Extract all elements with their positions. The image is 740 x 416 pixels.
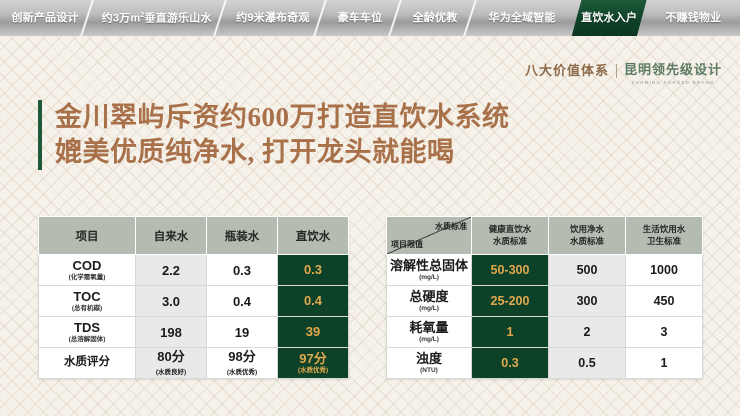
corner-top-label: 水质标准 xyxy=(435,221,467,232)
left-row-3-val-2-main: 97分 xyxy=(280,352,346,366)
left-row-3-name: 水质评分 xyxy=(39,348,136,379)
right-row-2-name-sub: (mg/L) xyxy=(389,336,469,343)
left-row-0-val-1: 0.3 xyxy=(207,255,278,286)
left-row-0-name-main: COD xyxy=(41,259,133,273)
table-row: 水质评分80分(水质良好)98分(水质优秀)97分(水质优秀) xyxy=(39,348,349,379)
table-row: COD(化学需氧量)2.20.30.3 xyxy=(39,255,349,286)
table-right-th-1: 健康直饮水 水质标准 xyxy=(472,217,549,255)
th3-line2: 卫生标准 xyxy=(628,236,700,247)
left-row-2-val-2: 39 xyxy=(278,317,349,348)
left-row-3-val-2: 97分(水质优秀) xyxy=(278,348,349,379)
right-row-3-name-main: 浊度 xyxy=(389,352,469,366)
superscript-two: 2 xyxy=(140,12,144,19)
right-row-1-val-2: 450 xyxy=(626,286,703,317)
table-right-body: 溶解性总固体(mg/L)50-3005001000总硬度(mg/L)25-200… xyxy=(387,255,703,379)
table-left-th-1: 自来水 xyxy=(136,217,207,255)
headline-text: 金川翠屿斥资约600万打造直饮水系统 媲美优质纯净水, 打开龙头就能喝 xyxy=(55,100,510,170)
right-row-1-val-0: 25-200 xyxy=(472,286,549,317)
left-row-3-val-1: 98分(水质优秀) xyxy=(207,348,278,379)
right-row-1-name: 总硬度(mg/L) xyxy=(387,286,472,317)
left-row-1-name-main: TOC xyxy=(41,290,133,304)
left-row-0-val-0: 2.2 xyxy=(136,255,207,286)
left-row-2-name-main: TDS xyxy=(41,321,133,335)
th2-line1: 饮用净水 xyxy=(570,224,604,234)
brand-sub-en-text: KUNMING FORGED BRAND xyxy=(632,80,715,85)
table-left-th-2: 瓶装水 xyxy=(207,217,278,255)
left-row-3-val-0: 80分(水质良好) xyxy=(136,348,207,379)
right-row-0-val-1: 500 xyxy=(549,255,626,286)
th1-line1: 健康直饮水 xyxy=(489,224,532,234)
right-row-1-val-1: 300 xyxy=(549,286,626,317)
table-left-header-row: 项目 自来水 瓶装水 直饮水 xyxy=(39,217,349,255)
left-row-3-val-2-sub: (水质优秀) xyxy=(280,367,346,374)
table-left-head: 项目 自来水 瓶装水 直饮水 xyxy=(39,217,349,255)
water-standards-table: 水质标准 项目限值 健康直饮水 水质标准 饮用净水 水质标准 生活饮用水 卫生标… xyxy=(386,216,703,379)
table-row: 溶解性总固体(mg/L)50-3005001000 xyxy=(387,255,703,286)
brand-sub-cn-text: 昆明领先级设计 xyxy=(624,62,722,78)
left-row-0-val-2: 0.3 xyxy=(278,255,349,286)
right-row-3-name: 浊度(NTU) xyxy=(387,348,472,379)
table-left-th-0: 项目 xyxy=(39,217,136,255)
table-left-th-3: 直饮水 xyxy=(278,217,349,255)
left-row-1-val-2: 0.4 xyxy=(278,286,349,317)
table-right-head: 水质标准 项目限值 健康直饮水 水质标准 饮用净水 水质标准 生活饮用水 卫生标… xyxy=(387,217,703,255)
nav-tab-5[interactable]: 华为全域智能 xyxy=(473,0,572,36)
top-nav-tabbar: 创新产品设计约3万m2垂直游乐山水约9米瀑布奇观豪车车位全龄优教华为全域智能直饮… xyxy=(0,0,740,36)
table-row: 浊度(NTU)0.30.51 xyxy=(387,348,703,379)
nav-tab-3[interactable]: 豪车车位 xyxy=(323,0,398,36)
left-row-1-name: TOC(总有机碳) xyxy=(39,286,136,317)
nav-tab-6[interactable]: 直饮水入户 xyxy=(572,0,647,36)
left-row-0-name: COD(化学需氧量) xyxy=(39,255,136,286)
right-row-3-val-1: 0.5 xyxy=(549,348,626,379)
nav-tab-label-2: 约9米瀑布奇观 xyxy=(236,13,310,24)
left-row-3-val-0-sub: (水质良好) xyxy=(138,366,204,376)
brand-divider xyxy=(616,64,617,78)
right-row-2-name-main: 耗氧量 xyxy=(389,321,469,335)
corner-bottom-label: 项目限值 xyxy=(391,239,423,250)
left-row-2-name: TDS(总溶解固体) xyxy=(39,317,136,348)
table-right-corner-cell: 水质标准 项目限值 xyxy=(387,217,472,255)
nav-tab-label-5: 华为全域智能 xyxy=(488,13,555,24)
nav-tab-label-7: 不赚钱物业 xyxy=(665,13,721,24)
nav-tab-1[interactable]: 约3万m2垂直游乐山水 xyxy=(90,0,223,36)
th1-line2: 水质标准 xyxy=(474,236,546,247)
brand-main-text: 八大价值体系 xyxy=(525,62,609,80)
nav-tab-label-0: 创新产品设计 xyxy=(11,13,78,24)
nav-tab-0[interactable]: 创新产品设计 xyxy=(0,0,90,36)
table-right-th-3: 生活饮用水 卫生标准 xyxy=(626,217,703,255)
right-row-1-name-main: 总硬度 xyxy=(389,290,469,304)
right-row-3-val-2: 1 xyxy=(626,348,703,379)
table-row: 总硬度(mg/L)25-200300450 xyxy=(387,286,703,317)
nav-tab-label-3: 豪车车位 xyxy=(338,13,383,24)
right-row-0-val-2: 1000 xyxy=(626,255,703,286)
left-row-1-val-0: 3.0 xyxy=(136,286,207,317)
left-row-3-val-1-sub: (水质优秀) xyxy=(209,366,275,376)
right-row-0-name-sub: (mg/L) xyxy=(389,274,469,281)
right-row-3-name-sub: (NTU) xyxy=(389,367,469,374)
table-row: TDS(总溶解固体)1981939 xyxy=(39,317,349,348)
left-row-2-name-sub: (总溶解固体) xyxy=(41,336,133,343)
left-row-0-name-sub: (化学需氧量) xyxy=(41,274,133,281)
slide-root: 创新产品设计约3万m2垂直游乐山水约9米瀑布奇观豪车车位全龄优教华为全域智能直饮… xyxy=(0,0,740,416)
right-row-2-val-0: 1 xyxy=(472,317,549,348)
nav-tab-2[interactable]: 约9米瀑布奇观 xyxy=(223,0,322,36)
th2-line2: 水质标准 xyxy=(551,236,623,247)
th3-line1: 生活饮用水 xyxy=(643,224,686,234)
right-row-2-val-2: 3 xyxy=(626,317,703,348)
left-row-2-val-1: 19 xyxy=(207,317,278,348)
nav-tab-label-6: 直饮水入户 xyxy=(581,13,637,24)
right-row-1-name-sub: (mg/L) xyxy=(389,305,469,312)
headline-line-2: 媲美优质纯净水, 打开龙头就能喝 xyxy=(55,135,510,170)
nav-tab-4[interactable]: 全龄优教 xyxy=(398,0,473,36)
right-row-3-val-0: 0.3 xyxy=(472,348,549,379)
table-right-th-2: 饮用净水 水质标准 xyxy=(549,217,626,255)
nav-tab-label-4: 全龄优教 xyxy=(413,13,458,24)
left-row-2-val-0: 198 xyxy=(136,317,207,348)
right-row-2-val-1: 2 xyxy=(549,317,626,348)
nav-tab-7[interactable]: 不赚钱物业 xyxy=(647,0,740,36)
headline-line-1: 金川翠屿斥资约600万打造直饮水系统 xyxy=(55,100,510,135)
right-row-2-name: 耗氧量(mg/L) xyxy=(387,317,472,348)
left-row-3-val-1-main: 98分 xyxy=(209,350,275,364)
table-row: 耗氧量(mg/L)123 xyxy=(387,317,703,348)
table-left-body: COD(化学需氧量)2.20.30.3TOC(总有机碳)3.00.40.4TDS… xyxy=(39,255,349,379)
brand-lockup: 八大价值体系 昆明领先级设计 KUNMING FORGED BRAND xyxy=(525,62,722,85)
table-row: TOC(总有机碳)3.00.40.4 xyxy=(39,286,349,317)
nav-tab-label-1: 约3万m2垂直游乐山水 xyxy=(102,12,212,25)
right-row-0-val-0: 50-300 xyxy=(472,255,549,286)
right-row-0-name-main: 溶解性总固体 xyxy=(389,259,469,273)
left-row-1-val-1: 0.4 xyxy=(207,286,278,317)
left-row-3-val-0-main: 80分 xyxy=(138,350,204,364)
left-row-1-name-sub: (总有机碳) xyxy=(41,305,133,312)
brand-sub-group: 昆明领先级设计 KUNMING FORGED BRAND xyxy=(624,62,722,85)
headline-accent-bar xyxy=(38,100,42,170)
headline-block: 金川翠屿斥资约600万打造直饮水系统 媲美优质纯净水, 打开龙头就能喝 xyxy=(38,100,510,170)
water-comparison-table: 项目 自来水 瓶装水 直饮水 COD(化学需氧量)2.20.30.3TOC(总有… xyxy=(38,216,349,379)
table-right-header-row: 水质标准 项目限值 健康直饮水 水质标准 饮用净水 水质标准 生活饮用水 卫生标… xyxy=(387,217,703,255)
right-row-0-name: 溶解性总固体(mg/L) xyxy=(387,255,472,286)
